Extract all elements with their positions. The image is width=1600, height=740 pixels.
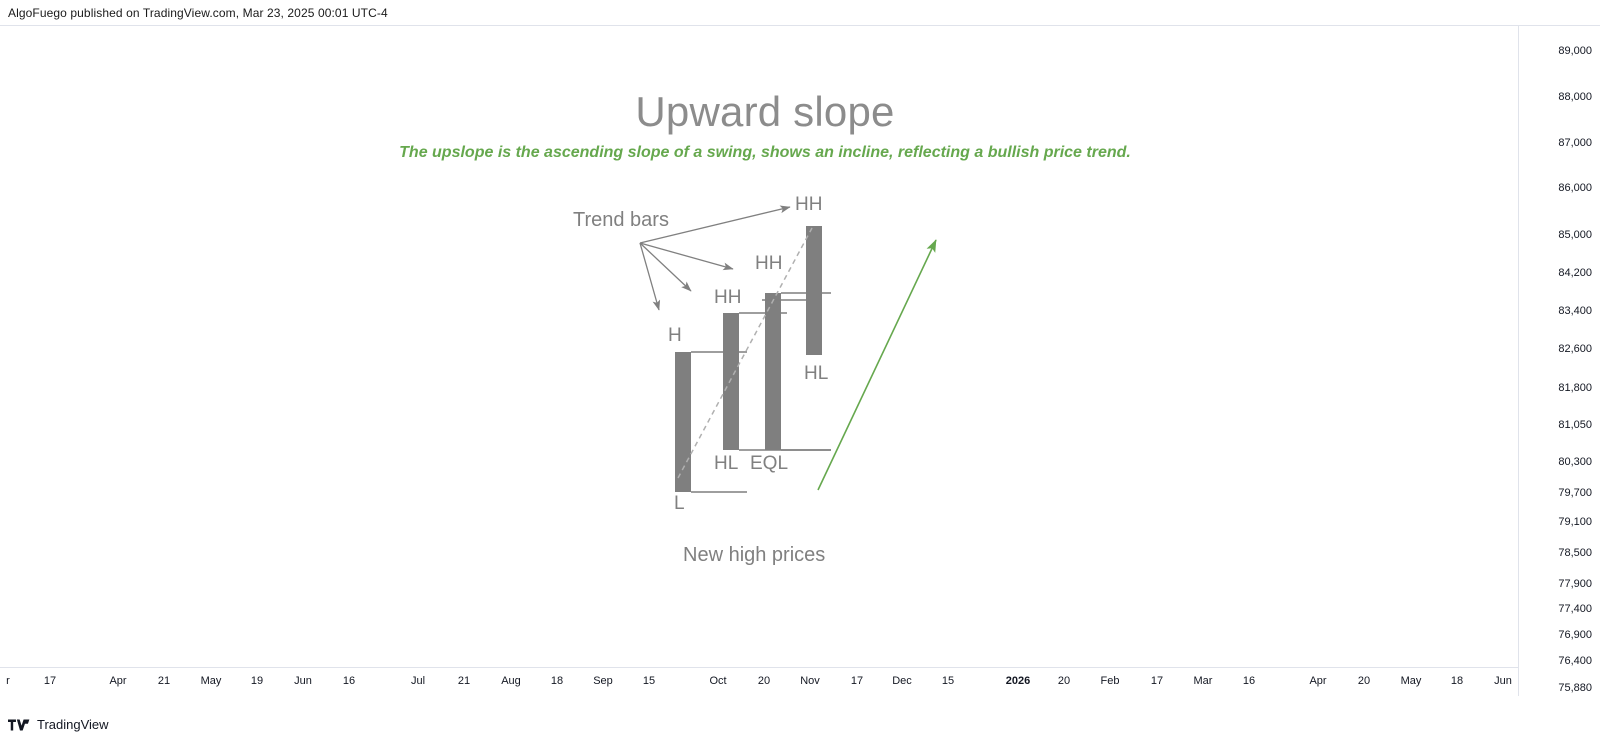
price-axis[interactable]: 89,00088,00087,00086,00085,00084,20083,4… <box>1518 26 1600 696</box>
price-axis-tick: 76,400 <box>1558 655 1592 667</box>
swing-point-label: HH <box>795 194 822 216</box>
time-axis-tick: Dec <box>892 675 912 687</box>
publisher-text: AlgoFuego published on TradingView.com, … <box>8 6 388 20</box>
swing-point-label: H <box>668 325 682 347</box>
time-axis-tick: Jun <box>1494 675 1512 687</box>
page-title: Upward slope <box>0 88 1530 136</box>
page-subtitle: The upslope is the ascending slope of a … <box>0 144 1530 162</box>
time-axis-tick: 17 <box>1151 675 1163 687</box>
price-axis-tick: 80,300 <box>1558 456 1592 468</box>
time-axis-tick: Oct <box>709 675 726 687</box>
swing-point-label: HH <box>714 287 741 309</box>
time-axis-tick: Aug <box>501 675 521 687</box>
price-axis-tick: 79,700 <box>1558 487 1592 499</box>
time-axis-tick: Sep <box>593 675 613 687</box>
price-axis-tick: 82,600 <box>1558 343 1592 355</box>
time-axis-tick: 20 <box>1058 675 1070 687</box>
price-axis-tick: 76,900 <box>1558 629 1592 641</box>
time-axis-tick: Apr <box>109 675 126 687</box>
price-axis-tick: 81,800 <box>1558 382 1592 394</box>
time-axis-tick: Feb <box>1101 675 1120 687</box>
time-axis-tick: May <box>201 675 222 687</box>
time-axis-tick: 15 <box>643 675 655 687</box>
time-axis-tick: Nov <box>800 675 820 687</box>
swing-point-label: EQL <box>750 453 788 475</box>
swing-point-label: HL <box>714 453 738 475</box>
time-axis-tick: Jul <box>411 675 425 687</box>
price-axis-tick: 84,200 <box>1558 267 1592 279</box>
trend-bars-label: Trend bars <box>573 209 669 232</box>
price-axis-tick: 86,000 <box>1558 182 1592 194</box>
time-axis-tick: 20 <box>758 675 770 687</box>
price-axis-tick: 79,100 <box>1558 516 1592 528</box>
time-axis-tick: 19 <box>251 675 263 687</box>
time-axis-tick: 15 <box>942 675 954 687</box>
time-axis-tick: 21 <box>458 675 470 687</box>
tradingview-logo-icon <box>8 718 30 732</box>
chart-screenshot: AlgoFuego published on TradingView.com, … <box>0 0 1600 740</box>
time-axis-tick: 16 <box>1243 675 1255 687</box>
time-axis-tick: 17 <box>44 675 56 687</box>
time-axis-tick: 18 <box>551 675 563 687</box>
time-axis-tick: 20 <box>1358 675 1370 687</box>
price-axis-tick: 88,000 <box>1558 91 1592 103</box>
time-axis-tick: 17 <box>851 675 863 687</box>
price-axis-tick: 77,400 <box>1558 603 1592 615</box>
tradingview-footer: TradingView <box>8 717 109 732</box>
price-axis-tick: 77,900 <box>1558 578 1592 590</box>
time-axis[interactable]: r17Apr21May19Jun16Jul21Aug18Sep15Oct20No… <box>0 667 1518 695</box>
swing-point-label: HH <box>755 253 782 275</box>
tradingview-brand-text: TradingView <box>37 717 109 732</box>
new-high-prices-label: New high prices <box>683 544 825 567</box>
time-axis-tick: 21 <box>158 675 170 687</box>
price-axis-tick: 85,000 <box>1558 229 1592 241</box>
publisher-bar: AlgoFuego published on TradingView.com, … <box>0 0 1600 25</box>
swing-point-label: HL <box>804 363 828 385</box>
time-axis-tick: Jun <box>294 675 312 687</box>
price-axis-tick: 75,880 <box>1558 682 1592 694</box>
price-axis-tick: 87,000 <box>1558 137 1592 149</box>
price-axis-tick: 83,400 <box>1558 305 1592 317</box>
price-axis-tick: 78,500 <box>1558 547 1592 559</box>
time-axis-tick: r <box>6 675 10 687</box>
time-axis-tick: May <box>1401 675 1422 687</box>
price-axis-tick: 81,050 <box>1558 419 1592 431</box>
swing-point-label: L <box>674 493 685 515</box>
time-axis-tick: 16 <box>343 675 355 687</box>
time-axis-tick: Apr <box>1309 675 1326 687</box>
time-axis-tick: Mar <box>1194 675 1213 687</box>
time-axis-tick: 2026 <box>1006 675 1030 687</box>
price-axis-tick: 89,000 <box>1558 45 1592 57</box>
time-axis-tick: 18 <box>1451 675 1463 687</box>
